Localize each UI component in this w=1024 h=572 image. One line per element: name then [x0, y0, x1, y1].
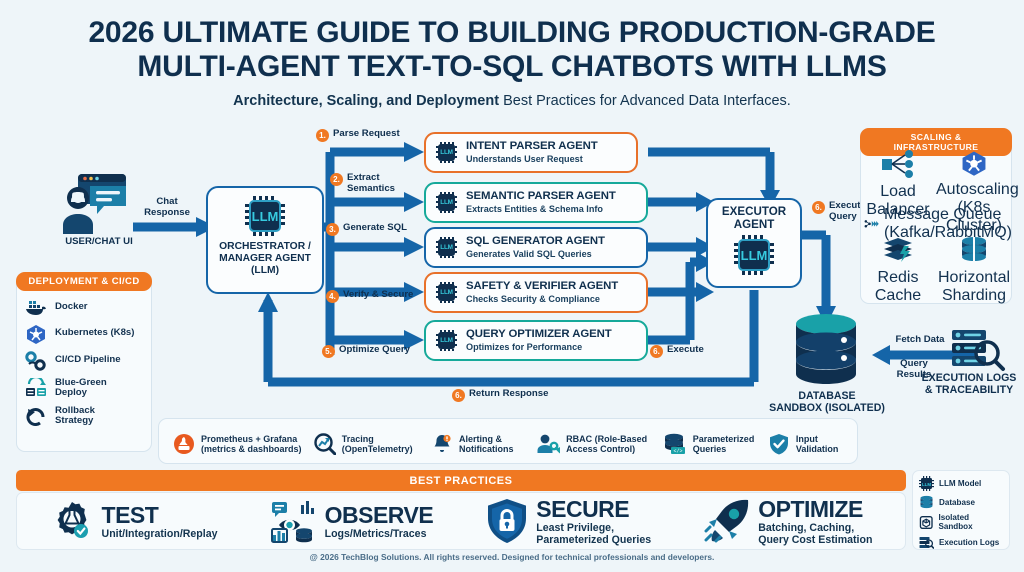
orchestrator-label: ORCHESTRATOR / MANAGER AGENT (LLM): [208, 241, 322, 277]
step-badge: 1.: [316, 129, 329, 142]
best-practice-test[interactable]: TEST Unit/Integration/Replay: [50, 499, 218, 543]
sharding-icon: [959, 236, 989, 264]
chip-label: LLM: [440, 149, 453, 156]
kubernetes-icon: [25, 324, 47, 344]
execution-logs-label: EXECUTION LOGS & TRACEABILITY: [914, 372, 1024, 396]
item-label: CI/CD Pipeline: [55, 355, 121, 366]
item-label: Redis Cache: [860, 269, 936, 305]
chip-label: LLM: [440, 337, 453, 344]
item-label: Docker: [55, 302, 88, 313]
chip-label: LLM: [440, 199, 453, 206]
rocket-icon: [704, 499, 750, 543]
chip-icon: LLM: [436, 192, 457, 213]
legend-label: Execution Logs: [939, 538, 999, 547]
step-badge: 6.: [650, 345, 663, 358]
chat-response-label: Chat Response: [136, 196, 198, 218]
monitoring-item-input-validation[interactable]: Input Validation: [768, 433, 857, 455]
database-icon: [919, 495, 934, 510]
legend-label: Database: [939, 498, 975, 507]
user-chat-ui-icon: [60, 172, 135, 234]
monitoring-item-rbac[interactable]: RBAC (Role-Based Access Control): [536, 433, 663, 455]
chip-icon: LLM: [245, 196, 285, 236]
legend-item-llm-model: LLM LLM Model: [919, 476, 1003, 491]
monitoring-item-alerting[interactable]: Alerting & Notifications: [431, 433, 536, 455]
monitoring-panel: Prometheus + Grafana (metrics & dashboar…: [158, 418, 858, 464]
bp-title: TEST: [102, 503, 218, 527]
item-label: Blue-Green Deploy: [55, 378, 107, 399]
scaling-item-redis[interactable]: Redis Cache: [860, 236, 936, 305]
footer-text: @ 2026 TechBlog Solutions. All rights re…: [0, 552, 1024, 562]
item-label: Alerting & Notifications: [459, 434, 514, 454]
agent-title: SAFETY & VERIFIER AGENT: [466, 281, 618, 293]
deployment-panel-title: DEPLOYMENT & CI/CD: [16, 272, 152, 291]
parameterized-query-icon: </>: [663, 433, 687, 455]
logs-icon: [919, 535, 934, 550]
agent-subtitle: Extracts Entities & Schema Info: [466, 205, 616, 215]
agent-card-intent-parser[interactable]: LLM INTENT PARSER AGENT Understands User…: [424, 132, 638, 173]
item-label: Rollback Strategy: [55, 406, 95, 427]
agent-subtitle: Generates Valid SQL Queries: [466, 250, 605, 260]
rollback-icon: [25, 406, 47, 426]
chip-icon: LLM: [436, 237, 457, 258]
agent-card-query-optimizer[interactable]: LLM QUERY OPTIMIZER AGENT Optimizes for …: [424, 320, 648, 361]
orchestrator-agent-box[interactable]: LLM ORCHESTRATOR / MANAGER AGENT (LLM): [206, 186, 324, 294]
step-badge: 4.: [326, 290, 339, 303]
agent-card-sql-generator[interactable]: LLM SQL GENERATOR AGENT Generates Valid …: [424, 227, 648, 268]
monitoring-item-parameterized[interactable]: </> Parameterized Queries: [663, 433, 768, 455]
deployment-panel: DEPLOYMENT & CI/CD Docker Kubernetes (K8…: [16, 272, 152, 452]
fetch-data-label: Fetch Data: [884, 334, 956, 345]
scaling-item-sharding[interactable]: Horizontal Sharding: [936, 236, 1012, 305]
user-chat-ui-label: USER/CHAT UI: [40, 236, 158, 247]
agent-title: SQL GENERATOR AGENT: [466, 236, 605, 248]
monitoring-item-prometheus[interactable]: Prometheus + Grafana (metrics & dashboar…: [173, 433, 314, 455]
bp-title: OPTIMIZE: [758, 497, 872, 521]
best-practices-title: BEST PRACTICES: [16, 470, 906, 491]
database-icon: [792, 312, 860, 388]
legend-label: LLM Model: [939, 479, 981, 488]
bp-subtitle: Least Privilege, Parameterized Queries: [536, 522, 651, 546]
database-label: DATABASE SANDBOX (ISOLATED): [768, 390, 886, 414]
legend-label: Isolated Sandbox: [938, 513, 1003, 531]
best-practice-observe[interactable]: OBSERVE Logs/Metrics/Traces: [271, 499, 434, 543]
deployment-item-docker[interactable]: Docker: [16, 295, 152, 320]
sandbox-icon: [919, 515, 933, 530]
item-label: RBAC (Role-Based Access Control): [566, 434, 647, 454]
deployment-item-cicd[interactable]: CI/CD Pipeline: [16, 347, 152, 374]
item-label: Prometheus + Grafana (metrics & dashboar…: [201, 434, 302, 454]
step-6-execute: 6. Execute: [650, 344, 704, 358]
executor-label: EXECUTOR AGENT: [708, 206, 800, 231]
agent-title: SEMANTIC PARSER AGENT: [466, 191, 616, 203]
agent-subtitle: Checks Security & Compliance: [466, 295, 618, 305]
step-1-parse-request: 1. Parse Request: [316, 128, 400, 142]
infographic-canvas: 2026 Ultimate Guide to Building Producti…: [0, 0, 1024, 572]
bell-icon: [431, 433, 453, 455]
item-label: Input Validation: [796, 434, 839, 454]
kubernetes-icon: [960, 150, 988, 176]
step-2-extract-semantics: 2. Extract Semantics: [330, 172, 395, 194]
bp-subtitle: Logs/Metrics/Traces: [325, 528, 434, 540]
legend-item-execution-logs: Execution Logs: [919, 535, 1003, 550]
step-label: Optimize Query: [339, 344, 410, 355]
best-practices-panel: TEST Unit/Integration/Replay OBSERVE L: [16, 492, 906, 550]
shield-lock-icon: [486, 498, 528, 544]
step-5-optimize-query: 5. Optimize Query: [322, 344, 410, 358]
chip-label: LLM: [440, 289, 453, 296]
eye-chart-icon: [271, 499, 317, 543]
agent-card-semantic-parser[interactable]: LLM SEMANTIC PARSER AGENT Extracts Entit…: [424, 182, 648, 223]
gear-flask-icon: [50, 499, 94, 543]
chip-label: LLM: [252, 209, 279, 224]
docker-icon: [25, 299, 47, 317]
step-label: Execute: [667, 344, 704, 355]
bp-subtitle: Batching, Caching, Query Cost Estimation: [758, 522, 872, 546]
legend-item-database: Database: [919, 495, 1003, 510]
bp-title: SECURE: [536, 497, 651, 521]
step-label: Return Response: [469, 388, 548, 399]
step-badge: 5.: [322, 345, 335, 358]
shield-check-icon: [768, 433, 790, 455]
chip-icon: LLM: [919, 476, 934, 491]
item-label: Tracing (OpenTelemetry): [342, 434, 413, 454]
redis-icon: [881, 236, 915, 264]
tracing-icon: [314, 433, 336, 455]
step-badge: 2.: [330, 173, 343, 186]
chip-label: LLM: [741, 248, 768, 263]
step-4-verify-secure: 4. Verify & Secure: [326, 289, 413, 303]
chip-icon: LLM: [436, 330, 457, 351]
load-balancer-icon: [881, 150, 915, 178]
step-badge: 6.: [812, 201, 825, 214]
item-label: Horizontal Sharding: [936, 269, 1012, 305]
bp-title: OBSERVE: [325, 503, 434, 527]
deployment-item-blue-green[interactable]: Blue-Green Deploy: [16, 374, 152, 402]
step-6-return-response: 6. Return Response: [452, 388, 548, 402]
legend-item-isolated-sandbox: Isolated Sandbox: [919, 513, 1003, 531]
chip-icon: LLM: [436, 282, 457, 303]
best-practice-optimize[interactable]: OPTIMIZE Batching, Caching, Query Cost E…: [704, 497, 872, 546]
logs-icon: [950, 328, 1006, 372]
svg-text:</>: </>: [673, 449, 682, 455]
chip-label: LLM: [440, 244, 453, 251]
step-6-execute-query: 6. Execute Query: [812, 200, 866, 222]
step-label: Verify & Secure: [343, 289, 413, 300]
monitoring-item-tracing[interactable]: Tracing (OpenTelemetry): [314, 433, 431, 455]
svg-text:LLM: LLM: [922, 482, 931, 487]
executor-agent-box[interactable]: EXECUTOR AGENT LLM: [706, 198, 802, 288]
step-label: Generate SQL: [343, 222, 407, 233]
agent-title: INTENT PARSER AGENT: [466, 141, 598, 153]
agent-subtitle: Optimizes for Performance: [466, 343, 612, 353]
chip-icon: LLM: [734, 235, 774, 275]
bp-subtitle: Unit/Integration/Replay: [102, 528, 218, 540]
agent-subtitle: Understands User Request: [466, 155, 598, 165]
step-3-generate-sql: 3. Generate SQL: [326, 222, 407, 236]
step-label: Parse Request: [333, 128, 400, 139]
deployment-item-kubernetes[interactable]: Kubernetes (K8s): [16, 320, 152, 347]
chip-icon: LLM: [436, 142, 457, 163]
agent-title: QUERY OPTIMIZER AGENT: [466, 329, 612, 341]
blue-green-icon: [25, 378, 47, 398]
prometheus-icon: [173, 433, 195, 455]
step-label: Extract Semantics: [347, 172, 395, 194]
message-queue-icon: [864, 212, 881, 236]
step-badge: 3.: [326, 223, 339, 236]
gears-icon: [25, 351, 47, 371]
item-label: Kubernetes (K8s): [55, 328, 134, 339]
deployment-item-rollback[interactable]: Rollback Strategy: [16, 402, 152, 430]
step-badge: 6.: [452, 389, 465, 402]
item-label: Parameterized Queries: [693, 434, 755, 454]
legend-panel: LLM LLM Model Database Isolated Sandbox …: [912, 470, 1010, 550]
rbac-icon: [536, 433, 560, 455]
agent-card-safety-verifier[interactable]: LLM SAFETY & VERIFIER AGENT Checks Secur…: [424, 272, 648, 313]
scaling-panel: SCALING & INFRASTRUCTURE Load Balancer A…: [860, 128, 1012, 304]
best-practice-secure[interactable]: SECURE Least Privilege, Parameterized Qu…: [486, 497, 651, 546]
